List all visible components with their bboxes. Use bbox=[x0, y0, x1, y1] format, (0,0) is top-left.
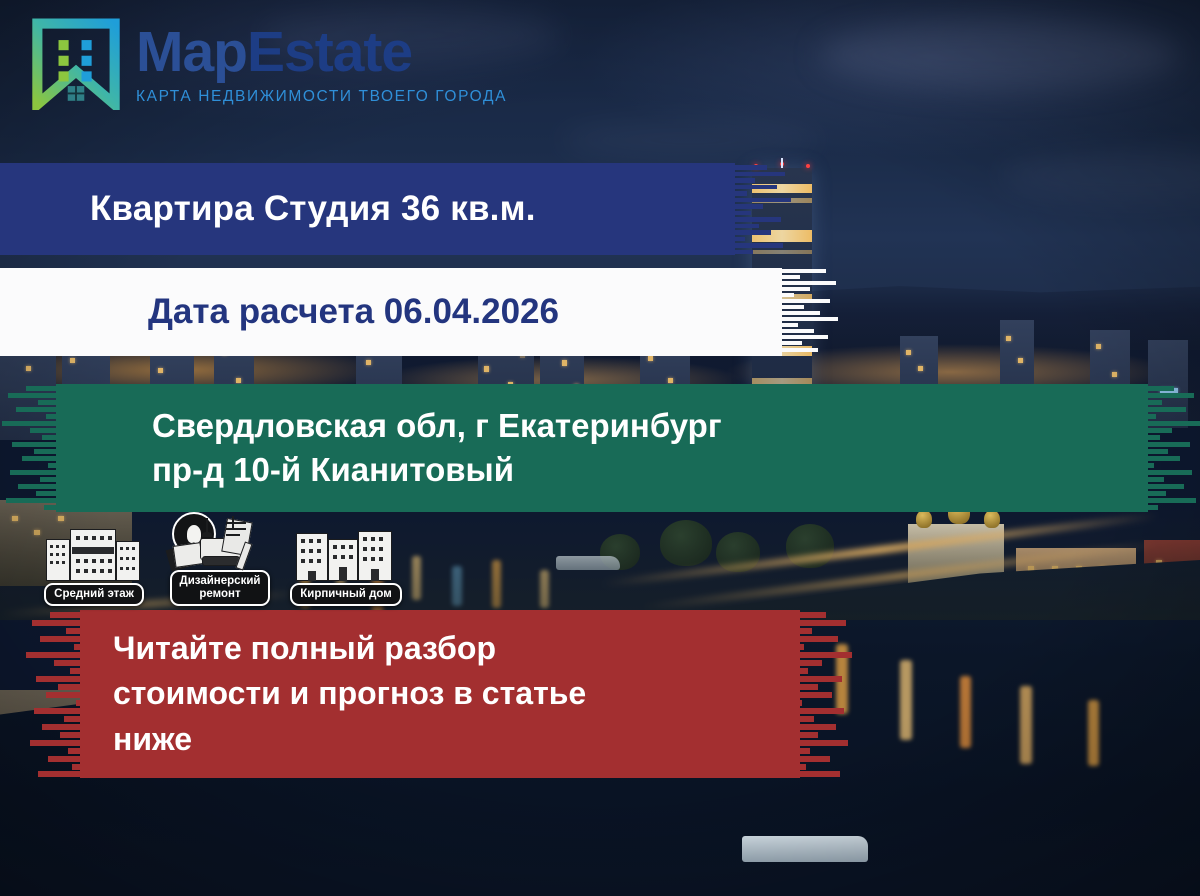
date-band-smear-edge bbox=[780, 268, 842, 356]
title-band-smear-edge bbox=[733, 163, 795, 255]
address-band-smear-edge-right bbox=[1144, 384, 1200, 512]
brand-wordmark: MapEstate bbox=[136, 24, 507, 81]
property-address-line1: Свердловская обл, г Екатеринбург bbox=[56, 404, 1148, 448]
badge-mid-floor[interactable]: Средний этаж bbox=[38, 525, 150, 606]
cta-band-smear-edge-left bbox=[24, 610, 86, 778]
brand-tagline: КАРТА НЕДВИЖИМОСТИ ТВОЕГО ГОРОДА bbox=[136, 88, 507, 106]
brand-wordmark-estate: Estate bbox=[247, 20, 412, 84]
brick-house-icon bbox=[292, 525, 400, 587]
bookmark-building-logo-icon bbox=[30, 18, 122, 115]
calculation-date-text: Дата расчета 06.04.2026 bbox=[0, 292, 782, 332]
cta-line3: ниже bbox=[80, 717, 800, 762]
badge-designer-renovation[interactable]: Дизайнерский ремонт bbox=[164, 512, 276, 606]
designer-renovation-icon bbox=[166, 512, 274, 574]
property-title-text: Квартира Студия 36 кв.м. bbox=[0, 189, 735, 229]
mid-floor-building-icon bbox=[40, 525, 148, 587]
cloud bbox=[560, 120, 820, 160]
brand-wordmark-map: Map bbox=[136, 20, 247, 84]
cta-line2: стоимости и прогноз в статье bbox=[80, 671, 800, 716]
address-band-smear-edge-left bbox=[0, 384, 60, 512]
calculation-date-band: Дата расчета 06.04.2026 bbox=[0, 268, 782, 356]
feature-badges: Средний этаж Дизайнерский ремонт bbox=[38, 512, 402, 606]
property-title-band: Квартира Студия 36 кв.м. bbox=[0, 163, 735, 255]
river-boat bbox=[742, 836, 868, 862]
brand-logo[interactable]: MapEstate КАРТА НЕДВИЖИМОСТИ ТВОЕГО ГОРО… bbox=[30, 18, 507, 115]
property-address-band: Свердловская обл, г Екатеринбург пр-д 10… bbox=[56, 384, 1148, 512]
property-promo-poster: MapEstate КАРТА НЕДВИЖИМОСТИ ТВОЕГО ГОРО… bbox=[0, 0, 1200, 896]
cta-line1: Читайте полный разбор bbox=[80, 626, 800, 671]
property-address-line2: пр-д 10-й Кианитовый bbox=[56, 448, 1148, 492]
cta-band-smear-edge-right bbox=[794, 610, 856, 778]
badge-designer-renovation-label: Дизайнерский ремонт bbox=[170, 570, 271, 606]
badge-brick-house[interactable]: Кирпичный дом bbox=[290, 525, 402, 606]
cloud bbox=[820, 20, 1180, 90]
cta-band[interactable]: Читайте полный разбор стоимости и прогно… bbox=[80, 610, 800, 778]
